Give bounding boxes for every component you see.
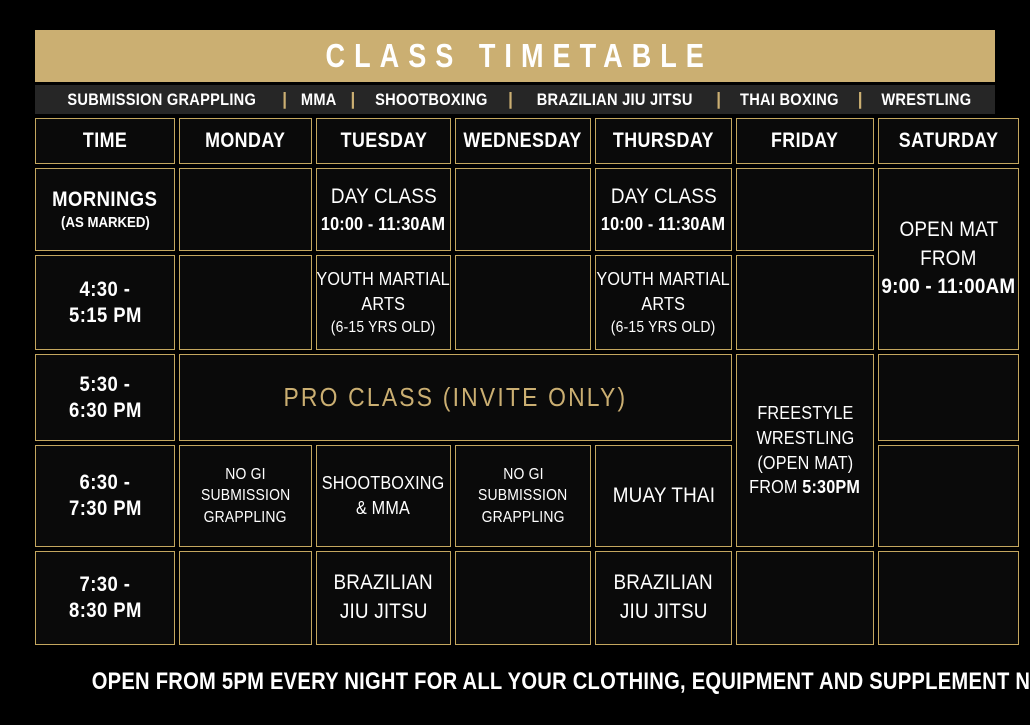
class-name: BRAZILIAN bbox=[614, 569, 713, 598]
discipline-separator: | bbox=[849, 89, 872, 110]
footer-message: OPEN FROM 5PM EVERY NIGHT FOR ALL YOUR C… bbox=[92, 668, 1030, 696]
discipline-separator: | bbox=[342, 89, 365, 110]
class-cell-tuesday-shootboxing-mma: SHOOTBOXING & MMA bbox=[316, 445, 451, 547]
header-label: TIME bbox=[83, 129, 127, 153]
class-cell-friday-mornings bbox=[736, 168, 874, 251]
column-header-friday: FRIDAY bbox=[736, 118, 874, 164]
class-name-cont: WRESTLING bbox=[756, 426, 854, 451]
time-label-end: 8:30 PM bbox=[69, 598, 142, 624]
column-header-saturday: SATURDAY bbox=[878, 118, 1019, 164]
class-cell-wednesday-mornings bbox=[455, 168, 591, 251]
time-label-start: 5:30 - bbox=[80, 372, 131, 398]
class-name-cont: FROM bbox=[920, 245, 976, 274]
class-name: DAY CLASS bbox=[331, 183, 437, 212]
class-name: OPEN MAT bbox=[899, 216, 998, 245]
class-cell-thursday-youth-martial-arts: YOUTH MARTIAL ARTS (6-15 YRS OLD) bbox=[595, 255, 732, 350]
class-cell-monday-no-gi-submission-grappling: NO GI SUBMISSION GRAPPLING bbox=[179, 445, 312, 547]
discipline-thai-boxing: THAI BOXING bbox=[738, 90, 840, 110]
time-label-end: 7:30 PM bbox=[69, 496, 142, 522]
column-header-thursday: THURSDAY bbox=[595, 118, 732, 164]
header-label: TUESDAY bbox=[340, 129, 427, 153]
header-label: MONDAY bbox=[205, 129, 285, 153]
discipline-brazilian-jiu-jitsu: BRAZILIAN JIU JITSU bbox=[535, 90, 694, 110]
class-cell-saturday-630 bbox=[878, 445, 1019, 547]
time-cell-430-515pm: 4:30 - 5:15 PM bbox=[35, 255, 175, 350]
class-name-cont: ARTS bbox=[642, 292, 686, 317]
title-bar: CLASS TIMETABLE bbox=[35, 30, 995, 82]
time-cell-630-730pm: 6:30 - 7:30 PM bbox=[35, 445, 175, 547]
class-cell-monday-730 bbox=[179, 551, 312, 645]
class-cell-thursday-brazilian-jiu-jitsu: BRAZILIAN JIU JITSU bbox=[595, 551, 732, 645]
header-label: WEDNESDAY bbox=[464, 129, 582, 153]
class-cell-wednesday-730 bbox=[455, 551, 591, 645]
class-name-cont: SUBMISSION bbox=[201, 485, 290, 506]
time-cell-mornings: MORNINGS (AS MARKED) bbox=[35, 168, 175, 251]
class-name-cont: SUBMISSION bbox=[478, 485, 567, 506]
class-name: SHOOTBOXING bbox=[322, 471, 445, 496]
class-name-cont2: GRAPPLING bbox=[481, 507, 564, 528]
class-time-prefix: FROM bbox=[750, 477, 803, 497]
column-header-wednesday: WEDNESDAY bbox=[455, 118, 591, 164]
discipline-submission-grappling: SUBMISSION GRAPPLING bbox=[65, 90, 257, 110]
class-cell-tuesday-youth-martial-arts: YOUTH MARTIAL ARTS (6-15 YRS OLD) bbox=[316, 255, 451, 350]
class-name-cont: ARTS bbox=[362, 292, 406, 317]
timetable-page: CLASS TIMETABLE SUBMISSION GRAPPLING | M… bbox=[0, 0, 1030, 725]
time-cell-730-830pm: 7:30 - 8:30 PM bbox=[35, 551, 175, 645]
class-name: YOUTH MARTIAL bbox=[317, 267, 450, 292]
time-sublabel: (AS MARKED) bbox=[61, 213, 150, 233]
time-label-start: 6:30 - bbox=[80, 470, 131, 496]
discipline-shootboxing: SHOOTBOXING bbox=[374, 90, 490, 110]
header-label: SATURDAY bbox=[899, 129, 999, 153]
discipline-separator: | bbox=[273, 89, 296, 110]
header-label: FRIDAY bbox=[771, 129, 838, 153]
class-name: NO GI bbox=[225, 464, 265, 485]
timetable-grid: TIME MONDAY TUESDAY WEDNESDAY THURSDAY F… bbox=[35, 118, 995, 645]
column-header-tuesday: TUESDAY bbox=[316, 118, 451, 164]
discipline-wrestling: WRESTLING bbox=[879, 90, 972, 110]
class-time-value: 5:30PM bbox=[803, 477, 861, 497]
class-cell-tuesday-mornings: DAY CLASS 10:00 - 11:30AM bbox=[316, 168, 451, 251]
header-label: THURSDAY bbox=[613, 129, 714, 153]
class-cell-pro-class: PRO CLASS (INVITE ONLY) bbox=[179, 354, 732, 441]
class-cell-monday-mornings bbox=[179, 168, 312, 251]
class-name: BRAZILIAN bbox=[334, 569, 433, 598]
footer-banner: FIGHT SHOP OPEN FROM 5PM EVERY NIGHT FOR… bbox=[35, 665, 995, 699]
discipline-mma: MMA bbox=[299, 90, 338, 110]
time-label-end: 5:15 PM bbox=[69, 303, 142, 329]
class-time: FROM 5:30PM bbox=[750, 475, 861, 500]
class-name-cont: JIU JITSU bbox=[340, 598, 428, 627]
class-name: DAY CLASS bbox=[611, 183, 717, 212]
class-cell-friday-730 bbox=[736, 551, 874, 645]
class-cell-thursday-muay-thai: MUAY THAI bbox=[595, 445, 732, 547]
class-name-cont2: GRAPPLING bbox=[204, 507, 287, 528]
class-cell-saturday-530 bbox=[878, 354, 1019, 441]
class-cell-friday-430 bbox=[736, 255, 874, 350]
time-label: MORNINGS bbox=[52, 187, 157, 213]
class-note: (6-15 YRS OLD) bbox=[331, 317, 436, 338]
time-label-start: 7:30 - bbox=[80, 572, 131, 598]
class-cell-friday-freestyle-wrestling: FREESTYLE WRESTLING (OPEN MAT) FROM 5:30… bbox=[736, 354, 874, 547]
time-label-end: 6:30 PM bbox=[69, 398, 142, 424]
class-cell-saturday-open-mat: OPEN MAT FROM 9:00 - 11:00AM bbox=[878, 168, 1019, 350]
class-time: 9:00 - 11:00AM bbox=[882, 273, 1016, 302]
class-cell-thursday-mornings: DAY CLASS 10:00 - 11:30AM bbox=[595, 168, 732, 251]
class-cell-monday-430 bbox=[179, 255, 312, 350]
class-cell-wednesday-430 bbox=[455, 255, 591, 350]
column-header-time: TIME bbox=[35, 118, 175, 164]
class-name: FREESTYLE bbox=[757, 401, 853, 426]
disciplines-bar: SUBMISSION GRAPPLING | MMA | SHOOTBOXING… bbox=[35, 85, 995, 114]
class-name-cont: JIU JITSU bbox=[620, 598, 708, 627]
time-cell-530-630pm: 5:30 - 6:30 PM bbox=[35, 354, 175, 441]
class-cell-wednesday-no-gi-submission-grappling: NO GI SUBMISSION GRAPPLING bbox=[455, 445, 591, 547]
class-name-cont: & MMA bbox=[356, 496, 410, 521]
class-time: 10:00 - 11:30AM bbox=[601, 212, 725, 237]
discipline-separator: | bbox=[499, 89, 522, 110]
time-label-start: 4:30 - bbox=[80, 277, 131, 303]
column-header-monday: MONDAY bbox=[179, 118, 312, 164]
class-cell-saturday-730 bbox=[878, 551, 1019, 645]
class-name: YOUTH MARTIAL bbox=[597, 267, 730, 292]
discipline-separator: | bbox=[707, 89, 730, 110]
class-time: 10:00 - 11:30AM bbox=[321, 212, 445, 237]
class-note: (OPEN MAT) bbox=[757, 451, 853, 476]
class-cell-tuesday-brazilian-jiu-jitsu: BRAZILIAN JIU JITSU bbox=[316, 551, 451, 645]
class-name: PRO CLASS (INVITE ONLY) bbox=[284, 380, 628, 416]
page-title: CLASS TIMETABLE bbox=[317, 37, 713, 75]
class-name: NO GI bbox=[503, 464, 543, 485]
class-name: MUAY THAI bbox=[612, 482, 714, 511]
class-note: (6-15 YRS OLD) bbox=[611, 317, 716, 338]
